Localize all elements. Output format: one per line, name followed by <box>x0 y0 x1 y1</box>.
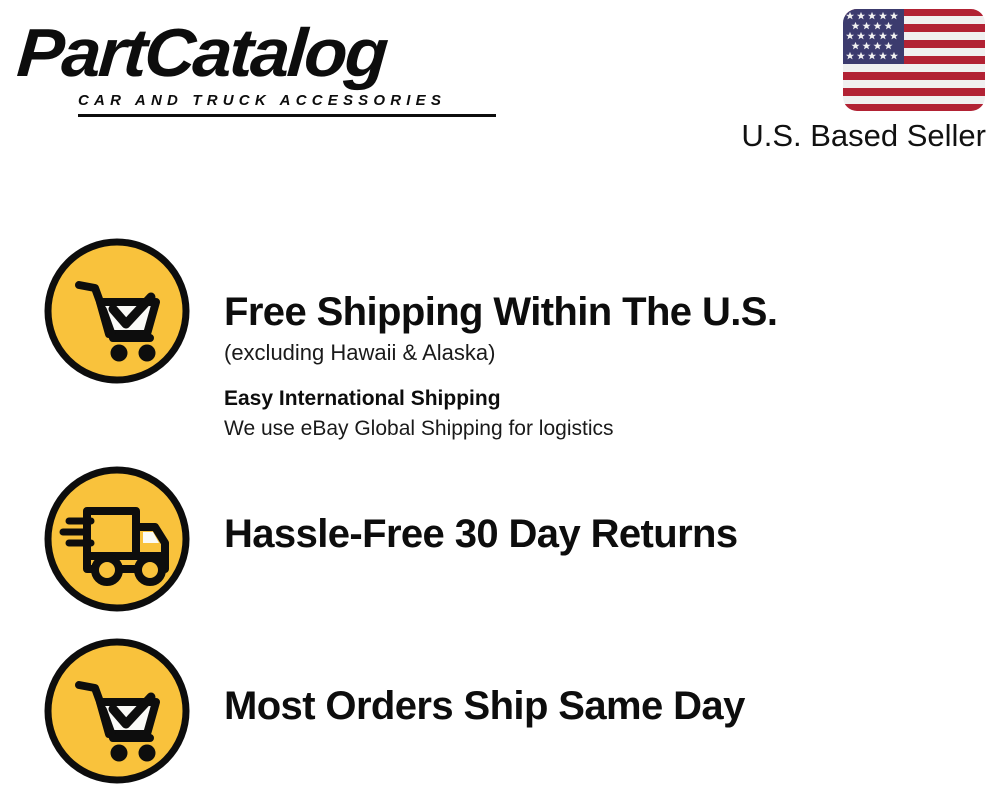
feature-icon-wrapper <box>43 637 191 785</box>
delivery-truck-icon <box>43 465 191 613</box>
feature-icon-wrapper <box>43 237 191 385</box>
feature-subtitle-strong: Easy International Shipping <box>224 385 1000 413</box>
us-flag-icon <box>842 8 986 112</box>
feature-title: Hassle-Free 30 Day Returns <box>224 511 1000 557</box>
shopping-cart-check-icon <box>43 637 191 785</box>
seller-badge: U.S. Based Seller <box>716 8 986 154</box>
feature-title: Most Orders Ship Same Day <box>224 683 1000 729</box>
page-header: PartCatalog CAR AND TRUCK ACCESSORIES <box>0 0 1000 175</box>
shopping-cart-check-icon <box>43 237 191 385</box>
feature-row: Hassle-Free 30 Day Returns <box>0 465 1000 613</box>
feature-text-block: Hassle-Free 30 Day Returns <box>224 511 1000 557</box>
feature-text-block: Most Orders Ship Same Day <box>224 683 1000 729</box>
feature-subtitle: (excluding Hawaii & Alaska) <box>224 338 1000 368</box>
brand-tagline: CAR AND TRUCK ACCESSORIES <box>78 92 446 109</box>
seller-badge-label: U.S. Based Seller <box>716 118 986 154</box>
feature-subtitle-detail: We use eBay Global Shipping for logistic… <box>224 415 1000 443</box>
feature-icon-wrapper <box>43 465 191 613</box>
feature-text-block: Free Shipping Within The U.S. (excluding… <box>224 289 1000 443</box>
feature-title: Free Shipping Within The U.S. <box>224 289 1000 335</box>
brand-wordmark: PartCatalog <box>15 18 519 88</box>
feature-list: Free Shipping Within The U.S. (excluding… <box>0 175 1000 785</box>
feature-row: Most Orders Ship Same Day <box>0 637 1000 785</box>
brand-underline-rule <box>78 114 496 117</box>
brand-logo[interactable]: PartCatalog CAR AND TRUCK ACCESSORIES <box>20 18 500 118</box>
feature-row: Free Shipping Within The U.S. (excluding… <box>0 237 1000 443</box>
